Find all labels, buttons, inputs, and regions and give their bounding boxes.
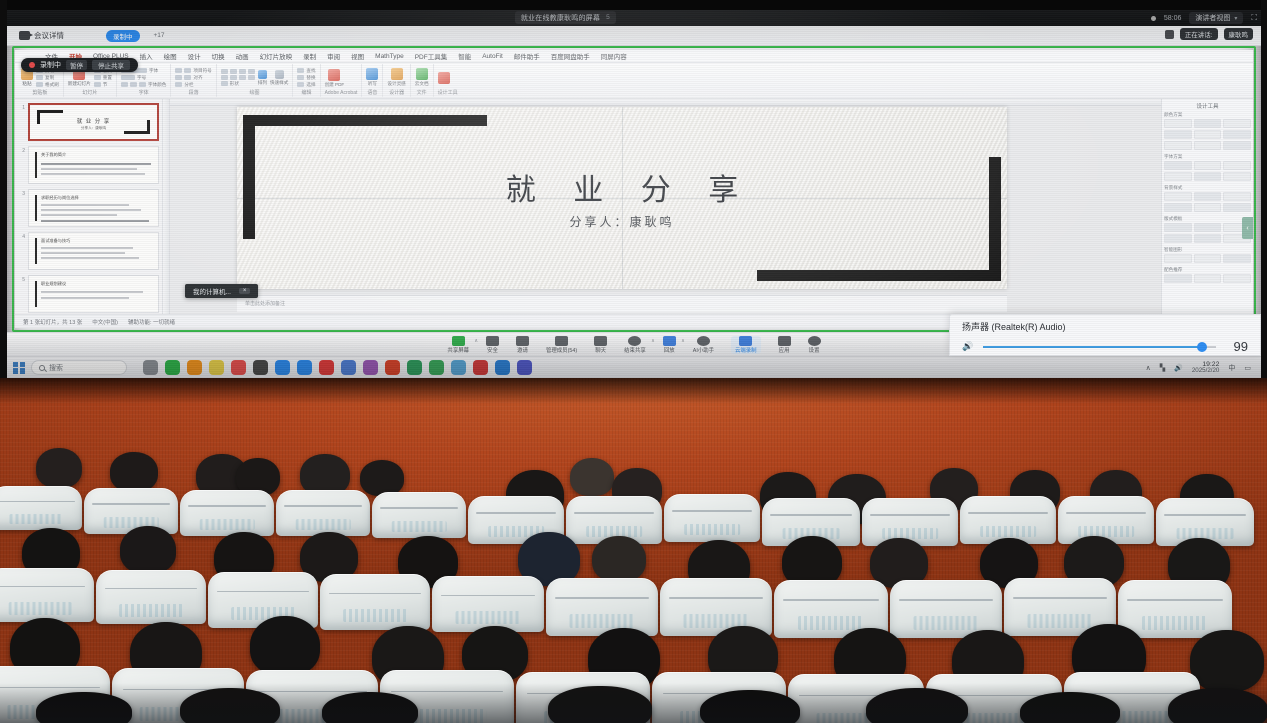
- design-tools-icon: [438, 72, 450, 84]
- apps-button[interactable]: 应用: [778, 336, 791, 354]
- notification-icon[interactable]: ▭: [1244, 364, 1251, 372]
- shapes-gallery[interactable]: 形状: [221, 69, 255, 87]
- speaking-status: 正在讲话: 康耿鸣: [1165, 28, 1253, 40]
- thumb-line: [41, 173, 145, 175]
- ribbon-tab-6[interactable]: 切换: [212, 51, 225, 61]
- replay-button[interactable]: 回放 ∧: [663, 336, 676, 354]
- chat-button[interactable]: 聊天: [594, 336, 607, 354]
- settings-button[interactable]: 设置: [808, 336, 821, 354]
- format-painter-button[interactable]: 格式刷: [36, 82, 59, 88]
- security-button[interactable]: 安全: [486, 336, 499, 354]
- find-label: 查找: [306, 68, 315, 74]
- create-pdf-label: 创建 PDF: [325, 82, 345, 88]
- ribbon-tab-5[interactable]: 设计: [188, 51, 201, 61]
- music-icon[interactable]: [429, 360, 444, 375]
- thumb-title-1: 就 业 分 享: [30, 117, 157, 125]
- copy-label: 复制: [45, 75, 54, 81]
- ribbon-tab-12[interactable]: MathType: [375, 53, 404, 60]
- thumb-line: [41, 252, 125, 254]
- seat: [96, 570, 206, 624]
- design-cell[interactable]: [1223, 254, 1251, 263]
- seat-logo: [456, 611, 521, 624]
- design-ideas-button[interactable]: 设计灵感: [387, 68, 405, 87]
- shape-more-icon: [221, 81, 228, 86]
- settings-icon: [808, 336, 821, 346]
- stop-share-icon: [628, 336, 641, 346]
- design-section-1-grid[interactable]: [1164, 161, 1251, 181]
- speaking-label: 正在讲话:: [1180, 28, 1218, 40]
- design-cell[interactable]: [1194, 130, 1222, 139]
- thumb-accent-bar-5: [35, 281, 37, 307]
- share-control-tip[interactable]: 录制中 暂停 停止共享: [21, 58, 138, 72]
- seat-logo: [570, 614, 635, 628]
- seat: [276, 490, 370, 536]
- design-section-5-title: 配色推荐: [1164, 267, 1251, 273]
- design-tools-panel[interactable]: 设计工具 颜色方案 字体方案: [1161, 99, 1253, 314]
- columns-label: 分栏: [184, 82, 193, 88]
- chevron-up-icon[interactable]: ∧: [681, 338, 685, 344]
- ribbon-group-designtools: 设计工具: [434, 64, 462, 97]
- font-color-label: 字体颜色: [148, 82, 166, 88]
- design-ideas-label: 设计灵感: [387, 81, 405, 87]
- seat: [1058, 496, 1154, 544]
- thumb-line: [41, 209, 141, 211]
- ribbon-tab-17[interactable]: 百度网盘助手: [551, 51, 590, 61]
- explorer-icon[interactable]: [253, 360, 268, 375]
- numbering-icon: [184, 68, 191, 73]
- seat-logo: [914, 616, 979, 630]
- language-indicator[interactable]: 中文(中国): [92, 318, 118, 326]
- replace-button[interactable]: 替换: [297, 75, 315, 81]
- slide-thumbnail-panel[interactable]: 1 就 业 分 享 分享人：康耿鸣 2: [15, 99, 163, 314]
- design-section-2-grid[interactable]: [1164, 192, 1251, 212]
- ribbon-tab-11[interactable]: 视图: [351, 51, 364, 61]
- shape-rect-icon: [221, 69, 228, 74]
- shape-banner-icon: [248, 75, 255, 80]
- toast-text: 我的计算机...: [193, 286, 231, 296]
- record-icon[interactable]: [319, 360, 334, 375]
- stop-share-toolbar-button[interactable]: 结束共享 ∧: [624, 336, 646, 354]
- meeting-title-pill: 就业在线教康耿鸣的屏幕 5: [515, 11, 616, 24]
- font-size-label: 字号: [137, 75, 146, 81]
- design-cell[interactable]: [1164, 172, 1192, 181]
- wechat-icon[interactable]: [165, 360, 180, 375]
- view-mode-selector[interactable]: 演讲者视图 ▾: [1189, 12, 1243, 24]
- italic-icon: [130, 82, 137, 87]
- design-cell[interactable]: [1223, 161, 1251, 170]
- search-input[interactable]: 搜索: [31, 360, 127, 375]
- seat-logo: [296, 519, 351, 530]
- design-cell[interactable]: [1164, 141, 1192, 150]
- clock-date: 2025/2/20: [1192, 368, 1220, 375]
- slide-subtitle[interactable]: 分享人：康耿鸣: [237, 213, 1007, 230]
- ai-assistant-icon: [697, 336, 710, 346]
- quick-styles-button[interactable]: 快速样式: [270, 70, 288, 86]
- arrange-button[interactable]: 排列: [258, 70, 267, 86]
- recording-dot-icon: [1151, 16, 1156, 21]
- seat-logo: [1142, 616, 1208, 630]
- slide-thumbnail-4[interactable]: 4 面试准备与技巧: [18, 232, 159, 270]
- screen-left-border: [0, 0, 7, 378]
- replace-label: 替换: [306, 75, 315, 81]
- ai-assistant-label: AI小助手: [693, 346, 714, 354]
- chevron-left-icon[interactable]: ‹: [1242, 217, 1253, 239]
- reset-button[interactable]: 重置: [94, 75, 112, 81]
- seat-logo: [1028, 614, 1093, 628]
- slide-canvas-area[interactable]: 就 业 分 享 分享人：康耿鸣 单击此处添加备注 我的计算机... ×: [163, 99, 1161, 314]
- design-section-4: 智能图形: [1164, 247, 1251, 263]
- seat: [1118, 580, 1232, 638]
- auditorium-scene: 就业在线教康耿鸣的屏幕 5 58:06 演讲者视图 ▾ ⛶ 会议详情 录制中 +…: [0, 0, 1267, 723]
- design-cell[interactable]: [1223, 274, 1251, 283]
- font-style-row[interactable]: 字体颜色: [121, 82, 166, 88]
- design-cell[interactable]: [1164, 234, 1192, 243]
- browser2-icon[interactable]: [473, 360, 488, 375]
- design-cell[interactable]: [1194, 234, 1222, 243]
- select-icon: [297, 82, 304, 87]
- design-cell[interactable]: [1223, 192, 1251, 201]
- dictate-button[interactable]: 听写: [366, 68, 378, 87]
- design-cell[interactable]: [1194, 254, 1222, 263]
- drawing-group-label: 绘图: [221, 89, 289, 96]
- designer-group-label: 设计器: [387, 89, 405, 96]
- chat-label: 聊天: [595, 346, 606, 354]
- design-section-3-grid[interactable]: [1164, 223, 1251, 243]
- seat-logo: [343, 609, 407, 622]
- ribbon-tab-9[interactable]: 录制: [303, 51, 316, 61]
- shapes-label: 形状: [230, 81, 239, 87]
- volume-flyout[interactable]: 扬声器 (Realtek(R) Audio) 🔊 99: [949, 314, 1261, 356]
- volume-slider-thumb[interactable]: [1197, 342, 1207, 352]
- design-cell[interactable]: [1194, 141, 1222, 150]
- seat: [180, 490, 274, 536]
- search-icon: [39, 365, 45, 371]
- design-cell[interactable]: [1194, 119, 1222, 128]
- design-cell[interactable]: [1223, 119, 1251, 128]
- slide-thumbnail-5-card: 职业规划建议: [28, 275, 159, 313]
- design-section-4-grid[interactable]: [1164, 254, 1251, 263]
- shape-arrow-icon: [239, 69, 246, 74]
- speaker-icon[interactable]: 🔊: [962, 341, 973, 352]
- slide-thumbnail-2[interactable]: 2 关于我的简介: [18, 146, 159, 184]
- decor-bracket-bottom-right-h: [757, 270, 1001, 281]
- design-cell[interactable]: [1194, 161, 1222, 170]
- seat: [84, 488, 178, 534]
- screen-drop-shadow: [0, 378, 1267, 404]
- apps-label: 应用: [779, 346, 790, 354]
- design-cell[interactable]: [1164, 254, 1192, 263]
- office-icon[interactable]: [385, 360, 400, 375]
- bullets-row[interactable]: 项目符号: [175, 68, 211, 74]
- fullscreen-icon[interactable]: ⛶: [1251, 13, 1257, 23]
- design-cell[interactable]: [1164, 161, 1192, 170]
- shape-star-icon: [230, 75, 237, 80]
- status-toast[interactable]: 我的计算机... ×: [185, 284, 258, 298]
- thumb-line: [41, 168, 137, 170]
- info-icon: [19, 31, 30, 40]
- ribbon-tab-14[interactable]: 智能: [458, 51, 471, 61]
- powerpoint-window: 文件 开始 Office PLUS 插入 绘图 设计 切换 动画 幻灯片放映 录…: [15, 50, 1253, 328]
- find-button[interactable]: 查找: [297, 68, 315, 74]
- slide-thumbnail-5[interactable]: 5 职业规划建议: [18, 275, 159, 313]
- stop-share-button[interactable]: 停止共享: [92, 60, 130, 70]
- browser-icon[interactable]: [231, 360, 246, 375]
- thumb-heading-3: 求职经历与岗位选择: [41, 195, 79, 201]
- chevron-up-icon[interactable]: ∧: [1146, 364, 1151, 372]
- search-placeholder: 搜索: [49, 363, 63, 373]
- underline-icon: [139, 82, 146, 87]
- design-panel-header: 设计工具: [1164, 102, 1251, 110]
- audio-device-name: 扬声器 (Realtek(R) Audio): [962, 320, 1248, 333]
- share-screen-label: 共享屏幕: [447, 346, 469, 354]
- design-section-1: 字体方案: [1164, 154, 1251, 181]
- ribbon-group-paragraph: 项目符号 对齐 分栏 段落: [171, 64, 216, 97]
- ribbon-tab-7[interactable]: 动画: [236, 51, 249, 61]
- accessibility-status[interactable]: 辅助功能: 一切就绪: [128, 318, 175, 326]
- horizontal-ruler: [163, 99, 1161, 106]
- design-cell[interactable]: [1223, 130, 1251, 139]
- thumb-line: [41, 257, 139, 259]
- audience-head: [570, 458, 614, 496]
- taskbar-clock[interactable]: 19:22 2025/2/20: [1192, 361, 1220, 375]
- shield-icon: [486, 336, 499, 346]
- photoshop-icon[interactable]: [341, 360, 356, 375]
- volume-level: 99: [1226, 339, 1248, 354]
- design-cell[interactable]: [1194, 192, 1222, 201]
- meeting-details-button[interactable]: 会议详情: [19, 30, 64, 41]
- thumb-line: [41, 247, 133, 249]
- thumb-heading-2: 关于我的简介: [41, 152, 66, 158]
- windows-start-icon[interactable]: [13, 362, 25, 374]
- store-icon[interactable]: [363, 360, 378, 375]
- meeting-top-right: 58:06 演讲者视图 ▾ ⛶: [1151, 10, 1257, 26]
- design-cell[interactable]: [1194, 274, 1222, 283]
- design-cell[interactable]: [1223, 172, 1251, 181]
- shape-triangle-icon: [221, 75, 228, 80]
- design-section-3-title: 版式模板: [1164, 216, 1251, 222]
- chevron-up-icon[interactable]: ∧: [651, 338, 655, 344]
- font-group-label: 字体: [121, 89, 166, 96]
- cloud-record-label: 云端录制: [735, 346, 757, 354]
- design-tools-button[interactable]: [438, 72, 450, 84]
- seat-logo: [200, 519, 255, 530]
- ribbon-tab-4[interactable]: 绘图: [164, 51, 177, 61]
- cloud-doc-button[interactable]: 云文档: [415, 68, 429, 87]
- design-section-0-grid[interactable]: [1164, 119, 1251, 150]
- seat: [372, 492, 466, 538]
- copy-button[interactable]: 复制: [36, 75, 59, 81]
- quick-styles-icon: [275, 70, 284, 79]
- audience-head: [110, 452, 158, 492]
- wifi-icon[interactable]: ▚: [1160, 364, 1165, 372]
- design-cell[interactable]: [1164, 223, 1192, 232]
- ribbon-group-drawing: 形状 排列 快速样式 绘图: [217, 64, 294, 97]
- ribbon-tab-18[interactable]: 同屏内容: [601, 51, 627, 61]
- tencent-meeting-icon[interactable]: [297, 360, 312, 375]
- search-icon: [297, 68, 304, 73]
- seat-logo: [684, 524, 740, 535]
- ribbon-tab-3[interactable]: 插入: [140, 51, 153, 61]
- teams-icon[interactable]: [517, 360, 532, 375]
- copy-icon: [36, 75, 43, 80]
- section-button[interactable]: 节: [94, 82, 112, 88]
- audience-head: [120, 526, 176, 574]
- manage-members-label: 管理成员(54): [546, 346, 577, 354]
- mail-icon[interactable]: [275, 360, 290, 375]
- thumb-accent-bar-3: [35, 195, 37, 221]
- thumb-subtitle-1: 分享人：康耿鸣: [30, 126, 157, 131]
- design-cell[interactable]: [1223, 141, 1251, 150]
- clipboard-group-label: 剪贴板: [21, 89, 59, 96]
- thumb-line: [41, 204, 129, 206]
- excel-icon[interactable]: [407, 360, 422, 375]
- seat-logo: [798, 616, 864, 630]
- design-section-5-grid[interactable]: [1164, 274, 1251, 283]
- design-section-0-title: 颜色方案: [1164, 112, 1251, 118]
- chevron-down-icon: ▾: [1234, 15, 1237, 22]
- seat-logo: [9, 602, 72, 615]
- replace-icon: [297, 75, 304, 80]
- create-pdf-button[interactable]: 创建 PDF: [325, 69, 345, 88]
- seat: [546, 578, 658, 636]
- ai-assistant-button[interactable]: AI小助手: [693, 336, 714, 354]
- view-mode-label: 演讲者视图: [1195, 13, 1230, 23]
- font-size-select[interactable]: 字号: [121, 75, 166, 81]
- seat-logo: [119, 604, 183, 617]
- select-button[interactable]: 选择: [297, 82, 315, 88]
- bracket-top-left-h: [37, 110, 63, 113]
- design-cell[interactable]: [1194, 223, 1222, 232]
- ribbon-tab-8[interactable]: 幻灯片放映: [260, 51, 293, 61]
- apps-icon: [778, 336, 791, 346]
- chevron-up-icon[interactable]: ∧: [474, 338, 478, 344]
- ime-indicator[interactable]: 中: [1228, 363, 1235, 373]
- volume-slider-fill: [983, 346, 1199, 348]
- windows-taskbar: 搜索: [7, 356, 1261, 378]
- ribbon-tab-16[interactable]: 邮件助手: [514, 51, 540, 61]
- manage-members-button[interactable]: 管理成员(54): [546, 336, 577, 354]
- volume-slider[interactable]: [983, 346, 1216, 348]
- edge-icon[interactable]: [495, 360, 510, 375]
- invite-button[interactable]: 邀请: [516, 336, 529, 354]
- ribbon-tab-10[interactable]: 审阅: [327, 51, 340, 61]
- task-view-icon[interactable]: [143, 360, 158, 375]
- design-cell[interactable]: [1164, 130, 1192, 139]
- speaker-icon[interactable]: 🔊: [1174, 364, 1183, 372]
- thumb-line: [41, 163, 151, 165]
- share-screen-button[interactable]: 共享屏幕 ∧: [447, 336, 469, 354]
- columns-row[interactable]: 分栏: [175, 82, 211, 88]
- replay-label: 回放: [664, 346, 675, 354]
- slide-number-5: 5: [18, 275, 25, 313]
- slide-counter: 第 1 张幻灯片，共 13 张: [23, 318, 82, 326]
- cloud-icon: [416, 68, 428, 80]
- ribbon-tab-15[interactable]: AutoFit: [482, 53, 503, 60]
- stop-share-label: 结束共享: [624, 346, 646, 354]
- design-cell[interactable]: [1164, 274, 1192, 283]
- designtools-group-label: 设计工具: [438, 89, 458, 96]
- design-cell[interactable]: [1164, 119, 1192, 128]
- cloud-record-button[interactable]: 云端录制: [731, 336, 761, 354]
- columns-icon: [175, 82, 182, 87]
- editing-minis: 查找 替换 选择: [297, 68, 315, 88]
- maps-icon[interactable]: [451, 360, 466, 375]
- ribbon: 粘贴 剪切 复制 格式刷 剪贴板 新建幻灯片 版式: [15, 63, 1253, 99]
- reset-icon: [94, 75, 101, 80]
- ceiling-shadow: [0, 0, 1267, 10]
- design-section-2-title: 背景样式: [1164, 185, 1251, 191]
- design-section-2: 背景样式: [1164, 185, 1251, 212]
- editing-group-label: 编辑: [297, 89, 315, 96]
- shape-callout-icon: [239, 75, 246, 80]
- meeting-participant-count: 5: [606, 14, 610, 21]
- audience-head: [36, 448, 82, 488]
- seat: [664, 494, 760, 542]
- decor-bracket-top-left-h: [243, 115, 487, 126]
- ribbon-tab-bar: 文件 开始 Office PLUS 插入 绘图 设计 切换 动画 幻灯片放映 录…: [15, 50, 1253, 63]
- paste-label: 粘贴: [22, 81, 31, 87]
- current-slide[interactable]: 就 业 分 享 分享人：康耿鸣: [237, 107, 1007, 289]
- slide-thumbnail-1[interactable]: 1 就 业 分 享 分享人：康耿鸣: [18, 103, 159, 141]
- ribbon-group-file: 云文档 文件: [411, 64, 434, 97]
- design-section-4-title: 智能图形: [1164, 247, 1251, 253]
- dictate-label: 听写: [368, 81, 377, 87]
- meeting-details-label: 会议详情: [34, 30, 64, 41]
- new-slide-label: 新建幻灯片: [68, 81, 91, 87]
- slide-title[interactable]: 就 业 分 享: [237, 165, 1007, 209]
- notes-icon[interactable]: [209, 360, 224, 375]
- settings-label: 设置: [809, 346, 820, 354]
- thumb-line: [41, 220, 149, 222]
- reset-label: 重置: [103, 75, 112, 81]
- cloud-doc-label: 云文档: [415, 81, 429, 87]
- design-cell[interactable]: [1164, 203, 1192, 212]
- toast-close-icon[interactable]: ×: [239, 288, 251, 294]
- slide-thumbnail-4-card: 面试准备与技巧: [28, 232, 159, 270]
- audience-area: [0, 440, 1267, 723]
- thumb-line: [41, 291, 143, 293]
- file-group-label: 文件: [415, 89, 429, 96]
- design-section-1-title: 字体方案: [1164, 154, 1251, 160]
- quick-styles-label: 快速样式: [270, 80, 288, 86]
- powerpoint-body: 1 就 业 分 享 分享人：康耿鸣 2: [15, 99, 1253, 314]
- pause-share-button[interactable]: 暂停: [66, 60, 87, 70]
- ribbon-tab-13[interactable]: PDF工具集: [415, 51, 448, 61]
- qq-icon[interactable]: [187, 360, 202, 375]
- meeting-elapsed: 58:06: [1164, 15, 1182, 22]
- ribbon-group-designer: 设计灵感 设计器: [383, 64, 410, 97]
- seat-logo: [392, 521, 447, 532]
- align-row[interactable]: 对齐: [175, 75, 211, 81]
- design-cell[interactable]: [1164, 192, 1192, 201]
- design-cell[interactable]: [1194, 172, 1222, 181]
- seat-logo: [980, 526, 1036, 537]
- design-section-5: 配色推荐: [1164, 267, 1251, 283]
- font-size-box: [121, 75, 135, 80]
- shape-line-icon: [248, 69, 255, 74]
- slide-thumbnail-3[interactable]: 3 求职经历与岗位选择: [18, 189, 159, 227]
- thumb-heading-5: 职业规划建议: [41, 281, 66, 287]
- thumb-accent-bar-2: [35, 152, 37, 178]
- design-cell[interactable]: [1223, 203, 1251, 212]
- notes-pane[interactable]: 单击此处添加备注: [237, 295, 1007, 312]
- voice-group-label: 语音: [366, 89, 378, 96]
- acrobat-group-label: Adobe Acrobat: [325, 90, 358, 96]
- share-recording-label: 录制中: [40, 60, 61, 70]
- slides-group-label: 幻灯片: [68, 89, 112, 96]
- design-cell[interactable]: [1194, 203, 1222, 212]
- audience-head: [250, 616, 320, 676]
